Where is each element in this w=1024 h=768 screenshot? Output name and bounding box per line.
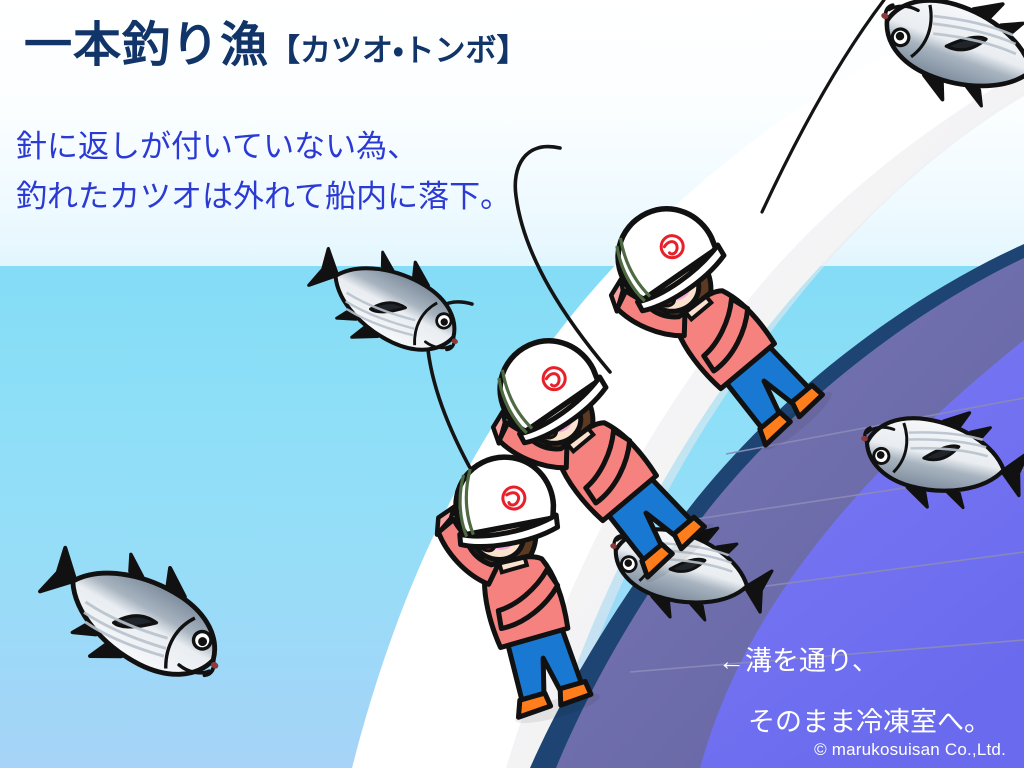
- groove-annotation: ←溝を通り、 そのまま冷凍室へ。: [718, 570, 991, 768]
- lead-paragraph: 針に返しが付いていない為、 釣れたカツオは外れて船内に落下。: [16, 122, 511, 222]
- groove-annotation-line1: ←溝を通り、: [718, 646, 879, 676]
- copyright-notice: © marukosuisan Co.,Ltd.: [814, 740, 1006, 760]
- page-title: 一本釣り漁【カツオ・トンボ】: [24, 22, 528, 70]
- page-title-sub: 【カツオ・トンボ】: [269, 33, 528, 68]
- page-title-main: 一本釣り漁: [24, 19, 269, 72]
- fisherman-top[interactable]: [580, 189, 845, 471]
- illustration-canvas: 一本釣り漁【カツオ・トンボ】 針に返しが付いていない為、 釣れたカツオは外れて船…: [0, 0, 1024, 768]
